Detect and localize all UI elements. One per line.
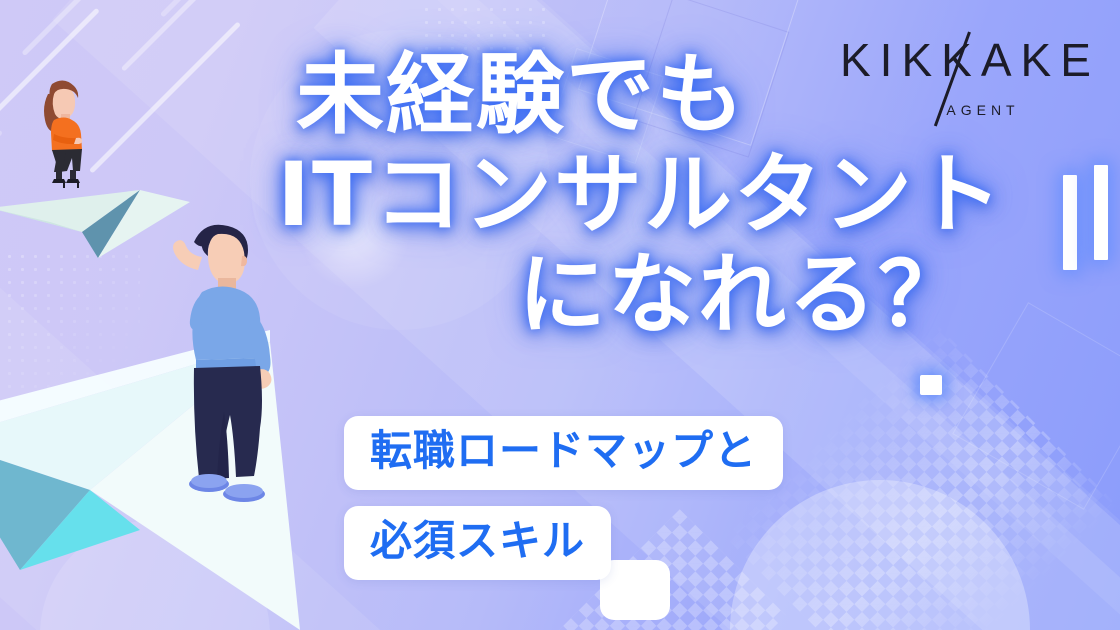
badge-roadmap: 転職ロードマップと [344,416,783,490]
badge-skills: 必須スキル [344,506,611,580]
brand-logo: KIKKAKE AGENT [840,34,1090,126]
light-streak [160,0,220,18]
accent-bar [1094,165,1108,260]
brand-logo-subtitle: AGENT [840,102,1090,118]
badge-group: 転職ロードマップと 必須スキル [344,416,783,596]
headline-line-3: になれる？ [0,248,1046,342]
hero-banner: 未経験でも ITコンサルタント になれる？ 転職ロードマップと 必須スキル KI… [0,0,1120,630]
headline-line-2: ITコンサルタント [0,148,1046,242]
accent-square [920,375,942,395]
accent-bar [1063,175,1077,270]
